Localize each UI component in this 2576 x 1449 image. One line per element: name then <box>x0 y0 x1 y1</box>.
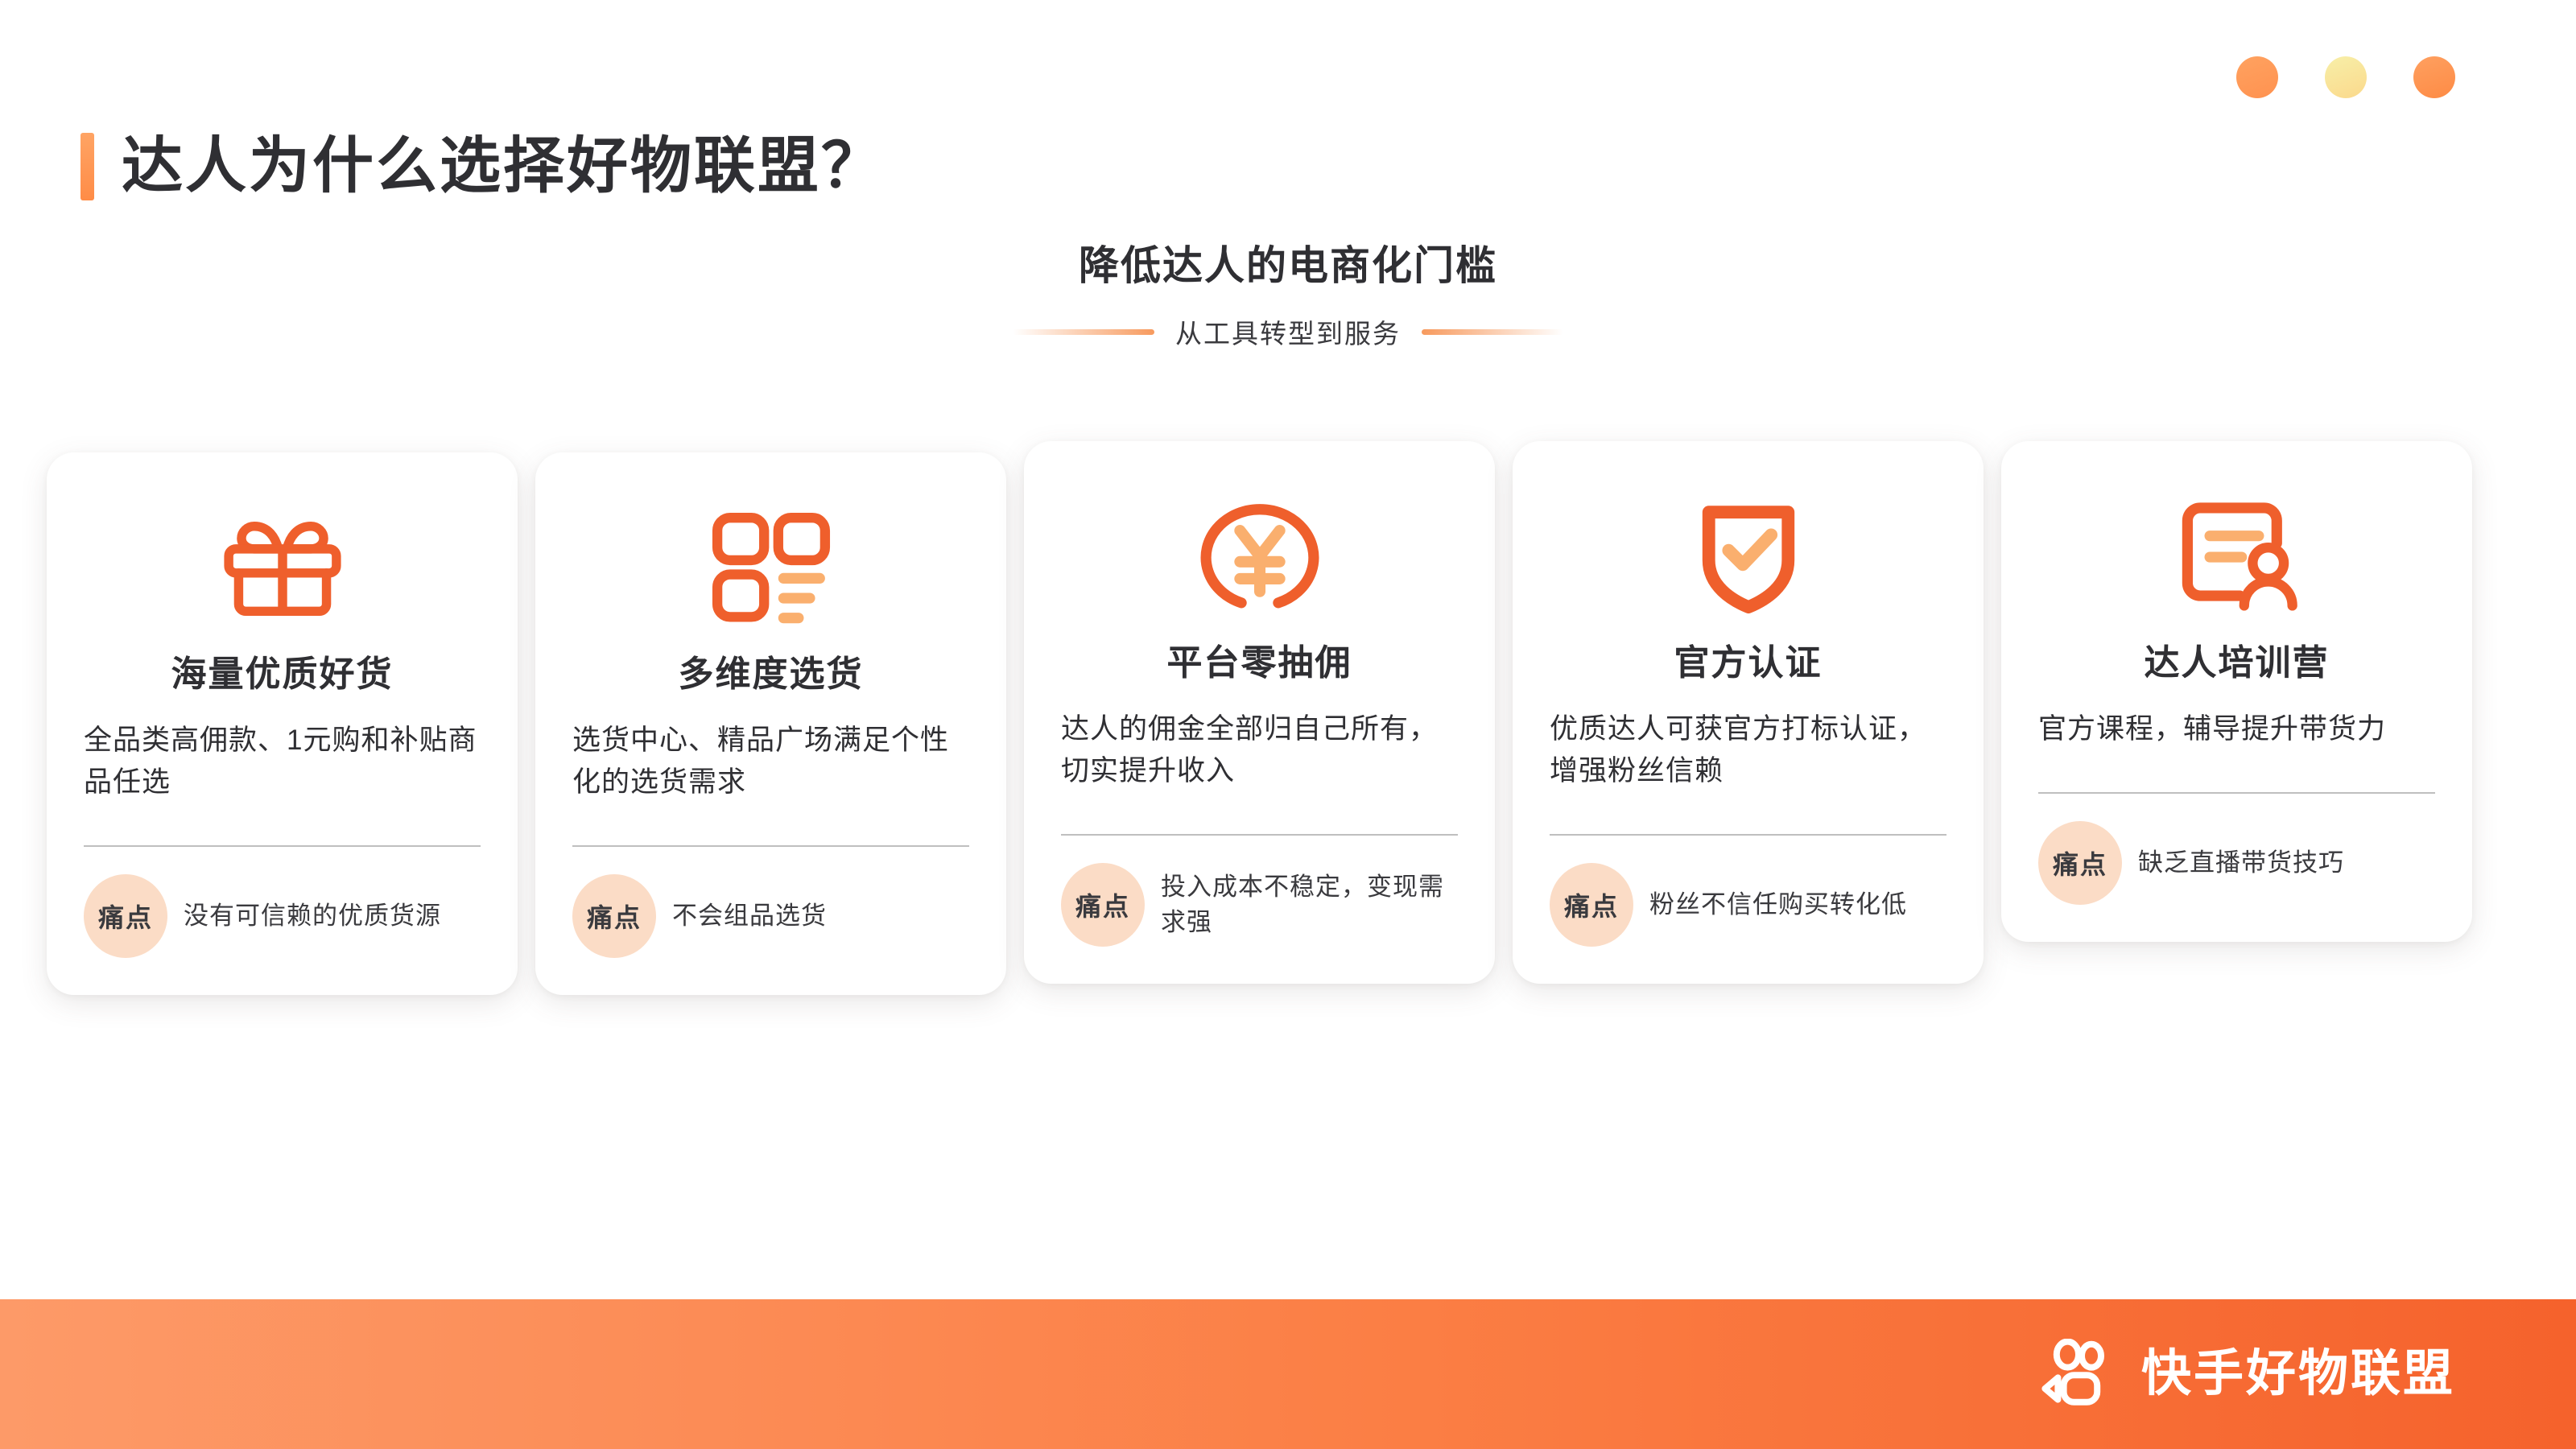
pain-point-badge: 痛点 <box>84 874 167 958</box>
card-title: 达人培训营 <box>2038 644 2435 683</box>
dot-yellow-center <box>2325 56 2367 98</box>
subheader-block: 降低达人的电商化门槛 从工具转型到服务 <box>0 242 2576 351</box>
pain-point-badge: 痛点 <box>1061 863 1145 947</box>
pain-point-text: 粉丝不信任购买转化低 <box>1649 887 1907 923</box>
card-spacer <box>84 803 481 831</box>
pain-point-row: 痛点 缺乏直播带货技巧 <box>2038 821 2435 905</box>
subheader-rule-row: 从工具转型到服务 <box>0 312 2576 351</box>
subheader-sub: 从工具转型到服务 <box>1175 312 1401 351</box>
card-spacer <box>572 803 969 831</box>
card-spacer <box>1061 792 1458 819</box>
rule-right-icon <box>1422 329 1563 335</box>
feature-card-3[interactable]: 平台零抽佣 达人的佣金全部归自己所有，切实提升收入 痛点 投入成本不稳定，变现需… <box>1024 441 1495 984</box>
card-divider <box>2038 792 2435 794</box>
card-divider <box>84 845 481 847</box>
footer-bar: 快手好物联盟 <box>0 1299 2576 1449</box>
feature-card-5[interactable]: 达人培训营 官方课程，辅导提升带货力 痛点 缺乏直播带货技巧 <box>2001 441 2472 942</box>
training-board-icon <box>2038 478 2435 631</box>
card-title: 平台零抽佣 <box>1061 644 1458 683</box>
card-spacer <box>1550 792 1946 819</box>
feature-card-2[interactable]: 多维度选货 选货中心、精品广场满足个性化的选货需求 痛点 不会组品选货 <box>535 452 1006 995</box>
card-divider <box>572 845 969 847</box>
gift-icon <box>84 489 481 642</box>
kuaishou-logo-icon <box>2040 1339 2117 1410</box>
pain-point-text: 投入成本不稳定，变现需求强 <box>1161 869 1458 940</box>
feature-card-1[interactable]: 海量优质好货 全品类高佣款、1元购和补贴商品任选 痛点 没有可信赖的优质货源 <box>47 452 518 995</box>
dot-orange-right <box>2413 56 2455 98</box>
card-description: 选货中心、精品广场满足个性化的选货需求 <box>572 720 969 803</box>
pain-point-row: 痛点 投入成本不稳定，变现需求强 <box>1061 863 1458 947</box>
feature-card-list: 海量优质好货 全品类高佣款、1元购和补贴商品任选 痛点 没有可信赖的优质货源 多… <box>47 441 2529 995</box>
card-description: 优质达人可获官方打标认证，增强粉丝信赖 <box>1550 708 1946 792</box>
rule-left-icon <box>1013 329 1154 335</box>
page-title-block: 达人为什么选择好物联盟？ <box>80 95 885 238</box>
pain-point-text: 没有可信赖的优质货源 <box>184 898 441 934</box>
pain-point-row: 痛点 没有可信赖的优质货源 <box>84 874 481 958</box>
title-accent-bar <box>80 133 94 200</box>
pain-point-row: 痛点 粉丝不信任购买转化低 <box>1550 863 1946 947</box>
pain-point-badge: 痛点 <box>572 874 656 958</box>
pain-point-row: 痛点 不会组品选货 <box>572 874 969 958</box>
page-title: 达人为什么选择好物联盟？ <box>122 136 885 197</box>
pain-point-badge: 痛点 <box>2038 821 2122 905</box>
shield-check-icon <box>1550 478 1946 631</box>
card-title: 官方认证 <box>1550 644 1946 683</box>
brand-lockup: 快手好物联盟 <box>2040 1339 2455 1410</box>
subheader-main: 降低达人的电商化门槛 <box>0 242 2576 290</box>
card-description: 达人的佣金全部归自己所有，切实提升收入 <box>1061 708 1458 792</box>
card-description: 官方课程，辅导提升带货力 <box>2038 708 2435 750</box>
card-divider <box>1061 834 1458 836</box>
card-title: 多维度选货 <box>572 655 969 694</box>
pain-point-badge: 痛点 <box>1550 863 1633 947</box>
card-description: 全品类高佣款、1元购和补贴商品任选 <box>84 720 481 803</box>
card-title: 海量优质好货 <box>84 655 481 694</box>
dot-orange-left <box>2236 56 2278 98</box>
yuan-circle-icon <box>1061 478 1458 631</box>
card-divider <box>1550 834 1946 836</box>
card-spacer <box>2038 750 2435 778</box>
grid-selection-icon <box>572 489 969 642</box>
pain-point-text: 缺乏直播带货技巧 <box>2138 845 2344 881</box>
feature-card-4[interactable]: 官方认证 优质达人可获官方打标认证，增强粉丝信赖 痛点 粉丝不信任购买转化低 <box>1513 441 1984 984</box>
decorative-dots <box>2236 56 2455 98</box>
pain-point-text: 不会组品选货 <box>672 898 827 934</box>
brand-name: 快手好物联盟 <box>2141 1349 2455 1399</box>
